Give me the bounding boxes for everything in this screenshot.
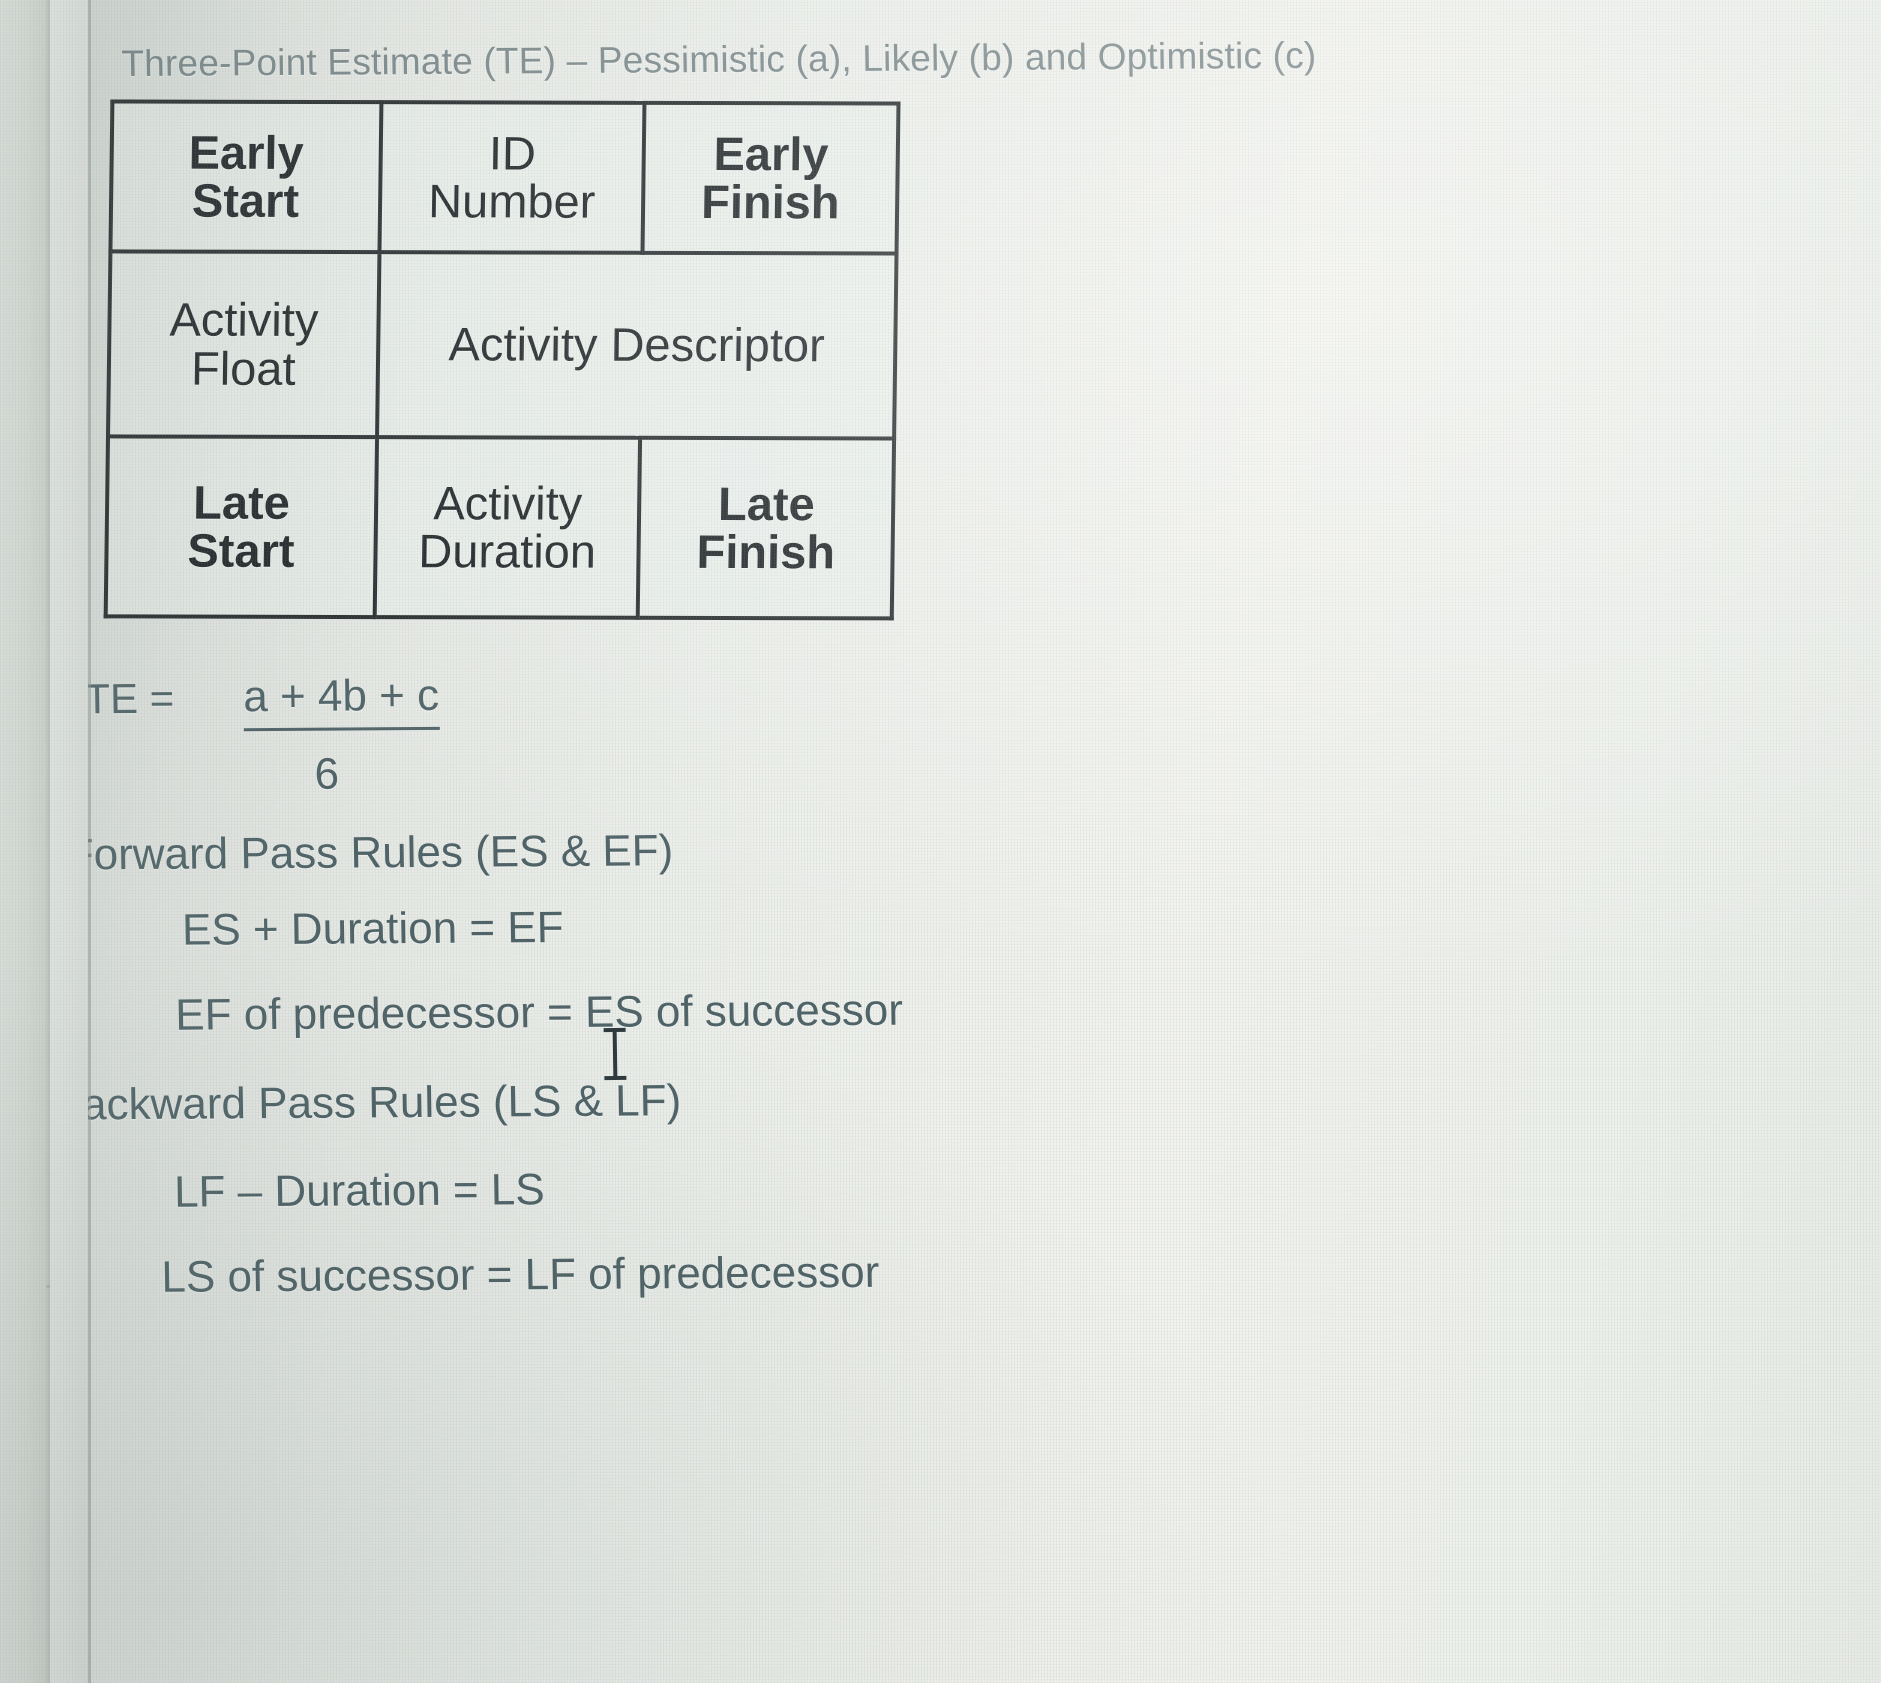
forward-pass-rule-1: ES + Duration = EF [182,903,564,956]
table-row: Early Start ID Number Early Finish [110,101,898,253]
backward-pass-heading: Backward Pass Rules (LS & LF) [52,1076,681,1130]
activity-float-line2: Float [191,341,296,394]
late-finish-line1: Late [718,477,815,530]
table-row: Activity Float Activity Descriptor [108,251,897,438]
early-finish-line1: Early [713,127,829,180]
cell-id-number: ID Number [379,102,645,253]
monitor-bezel-seam [88,0,91,1683]
cell-activity-float: Activity Float [108,251,379,437]
early-finish-line2: Finish [701,175,840,228]
ibeam-stem [613,1032,618,1076]
forward-pass-heading: Forward Pass Rules (ES & EF) [66,826,673,880]
id-number-line2: Number [428,174,596,227]
backward-pass-rule-1: LF – Duration = LS [174,1165,545,1218]
monitor-bezel-outer [0,0,46,1683]
cell-late-start: Late Start [106,436,377,617]
activity-descriptor-label: Activity Descriptor [448,318,825,372]
cell-activity-duration: Activity Duration [375,437,641,618]
cell-activity-descriptor: Activity Descriptor [377,252,897,438]
activity-duration-line1: Activity [433,476,583,529]
text-ibeam-cursor[interactable] [604,1028,627,1080]
page-title: Three-Point Estimate (TE) – Pessimistic … [121,34,1482,85]
te-formula-label: TE = [84,675,175,724]
cell-early-start: Early Start [110,101,381,252]
early-start-line2: Start [192,174,300,227]
activity-node-table: Early Start ID Number Early Finish Activ… [104,99,901,620]
te-formula-numerator: a + 4b + c [243,671,440,731]
photographed-screen: Three-Point Estimate (TE) – Pessimistic … [0,0,1881,1683]
forward-pass-rule-2: EF of predecessor = ES of successor [175,986,903,1041]
te-formula-denominator: 6 [314,750,339,800]
activity-duration-line2: Duration [418,524,596,577]
cell-late-finish: Late Finish [638,438,894,619]
cell-early-finish: Early Finish [643,103,899,254]
late-finish-line2: Finish [696,525,835,578]
slide-content: Three-Point Estimate (TE) – Pessimistic … [0,0,1881,1683]
late-start-line1: Late [193,475,290,528]
ibeam-bottom-bar [604,1076,626,1080]
activity-float-line1: Activity [169,293,319,346]
id-number-line1: ID [489,126,537,179]
early-start-line1: Early [188,125,304,178]
late-start-line2: Start [187,524,295,577]
table-row: Late Start Activity Duration Late Finish [106,436,894,618]
backward-pass-rule-2: LS of successor = LF of predecessor [161,1248,880,1303]
monitor-bezel-inner [50,0,88,1683]
